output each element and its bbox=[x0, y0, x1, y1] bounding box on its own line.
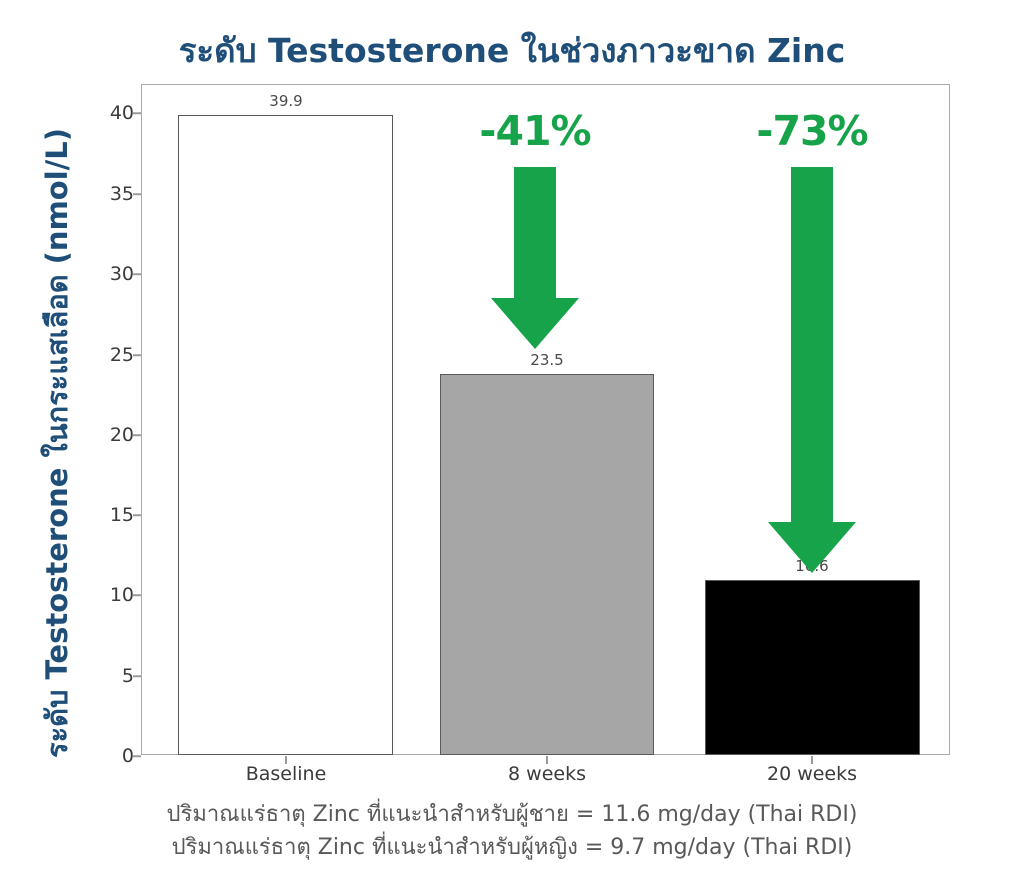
bar-20-weeks[interactable] bbox=[705, 580, 920, 755]
bar-value-label: 39.9 bbox=[269, 92, 302, 110]
y-tick-label: 40 bbox=[88, 102, 134, 124]
y-tick-label: 5 bbox=[88, 665, 134, 687]
y-tick-mark bbox=[133, 755, 141, 757]
y-tick-label: 30 bbox=[88, 263, 134, 285]
y-tick-label: 10 bbox=[88, 584, 134, 606]
y-tick-label: 25 bbox=[88, 344, 134, 366]
y-axis-title: ระดับ Testosterone ในกระแสเลือด (nmol/L) bbox=[34, 43, 80, 843]
y-tick-label: 20 bbox=[88, 424, 134, 446]
down-arrow-icon bbox=[766, 167, 858, 579]
x-category-label: 20 weeks bbox=[767, 763, 857, 785]
x-category-label: 8 weeks bbox=[508, 763, 586, 785]
y-tick-label: 35 bbox=[88, 183, 134, 205]
footnote-line: ปริมาณแร่ธาตุ Zinc ที่แนะนำสำหรับผู้ชาย … bbox=[0, 798, 1024, 831]
y-tick-label: 15 bbox=[88, 504, 134, 526]
y-tick-mark bbox=[133, 273, 141, 275]
y-tick-mark bbox=[133, 514, 141, 516]
annotation-label-decline-73: -73% bbox=[756, 107, 867, 155]
bar-8-weeks[interactable] bbox=[440, 374, 654, 755]
bar-baseline[interactable] bbox=[178, 115, 393, 755]
y-tick-mark bbox=[133, 112, 141, 114]
footnotes: ปริมาณแร่ธาตุ Zinc ที่แนะนำสำหรับผู้ชาย … bbox=[0, 798, 1024, 864]
y-tick-mark bbox=[133, 594, 141, 596]
y-tick-mark bbox=[133, 675, 141, 677]
page-title: ระดับ Testosterone ในช่วงภาวะขาด Zinc bbox=[0, 24, 1024, 77]
down-arrow-icon bbox=[489, 167, 581, 355]
annotation-label-decline-41: -41% bbox=[479, 107, 590, 155]
footnote-line: ปริมาณแร่ธาตุ Zinc ที่แนะนำสำหรับผู้หญิง… bbox=[0, 831, 1024, 864]
y-tick-mark bbox=[133, 193, 141, 195]
y-tick-mark bbox=[133, 354, 141, 356]
x-category-label: Baseline bbox=[246, 763, 327, 785]
y-tick-label: 0 bbox=[88, 745, 134, 767]
y-tick-mark bbox=[133, 434, 141, 436]
